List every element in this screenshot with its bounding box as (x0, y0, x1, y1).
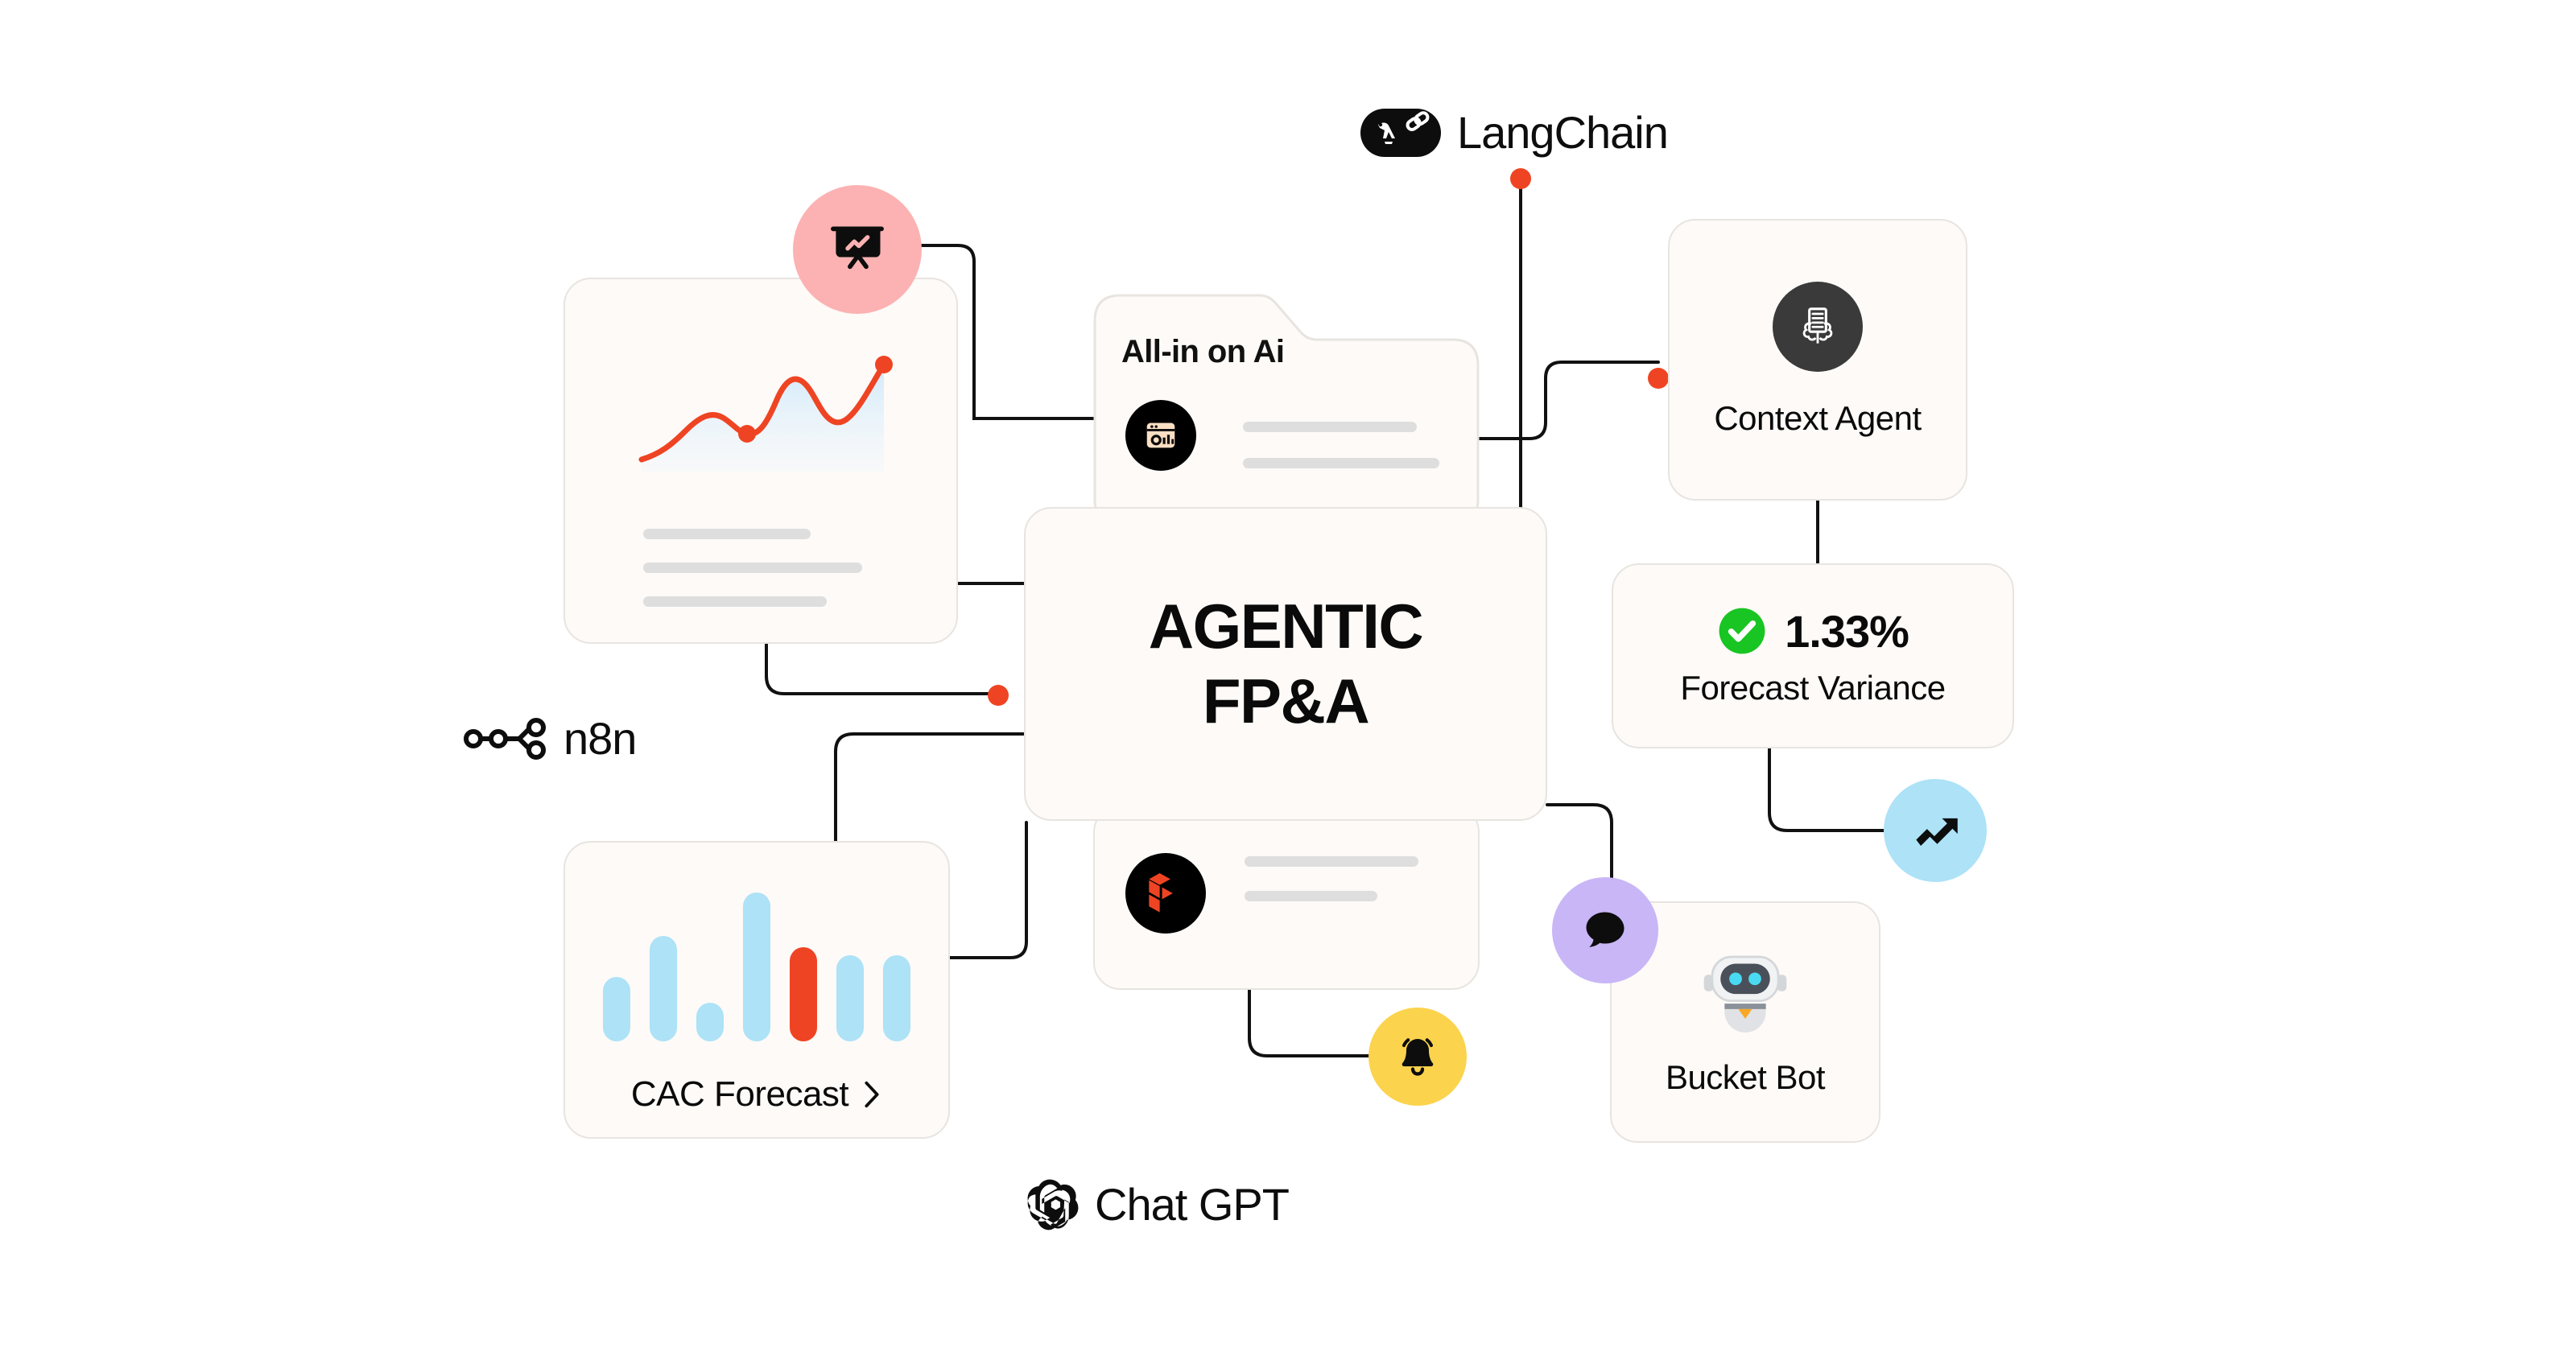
document-card[interactable] (1093, 805, 1480, 990)
bucket-bot-label: Bucket Bot (1666, 1058, 1825, 1097)
brand-label: Chat GPT (1095, 1178, 1289, 1230)
forecast-variance-card[interactable]: 1.33% Forecast Variance (1612, 563, 2014, 748)
hub-title-line1: AGENTIC (1149, 591, 1423, 662)
brand-n8n: n8n (463, 712, 636, 765)
cac-bar (650, 936, 677, 1041)
cac-bar (696, 1003, 724, 1041)
context-agent-card[interactable]: Context Agent (1668, 219, 1967, 501)
skeleton-line (1245, 891, 1377, 901)
skeleton-line (643, 563, 862, 573)
check-circle-icon (1717, 606, 1767, 656)
wire-dot (988, 685, 1009, 706)
skeleton-line (1243, 458, 1439, 468)
forecast-variance-value: 1.33% (1785, 605, 1909, 657)
chat-badge[interactable] (1552, 877, 1658, 983)
folder-title: All-in on Ai (1121, 334, 1284, 370)
hub-title-line2: FP&A (1203, 666, 1368, 736)
n8n-nodes-icon (463, 714, 547, 764)
brain-document-glyph (1793, 302, 1843, 352)
cac-bar (883, 955, 910, 1041)
chart-marker (738, 425, 756, 443)
cac-forecast-card[interactable]: CAC Forecast (563, 841, 950, 1139)
isometric-block-glyph (1145, 871, 1187, 916)
speech-bubble-icon (1581, 906, 1629, 954)
brand-label: n8n (563, 712, 636, 765)
agentic-fpa-hub[interactable]: AGENTIC FP&A (1024, 507, 1547, 821)
presentation-chart-icon (827, 219, 888, 280)
skeleton-line (643, 529, 811, 539)
dashboard-glyph (1142, 417, 1179, 454)
trending-up-badge[interactable] (1884, 779, 1987, 882)
brand-langchain: LangChain (1360, 106, 1668, 159)
cac-forecast-label: CAC Forecast (631, 1074, 848, 1115)
skeleton-line (1243, 422, 1417, 432)
dashboard-window-icon (1125, 400, 1196, 471)
chevron-right-icon[interactable] (861, 1079, 882, 1110)
skeleton-line (1245, 856, 1418, 867)
brand-label: LangChain (1457, 106, 1668, 159)
line-chart-card[interactable] (563, 278, 958, 644)
revenue-area-chart (565, 289, 956, 490)
openai-knot-icon (1021, 1175, 1079, 1233)
cac-bar-chart (565, 892, 948, 1041)
isometric-block-icon (1125, 853, 1206, 934)
all-in-on-ai-card[interactable]: All-in on Ai (1093, 294, 1480, 527)
brand-chatgpt: Chat GPT (1021, 1175, 1289, 1233)
wire-dot (1648, 368, 1669, 389)
langchain-parrot-icon (1360, 109, 1441, 157)
bell-badge[interactable] (1368, 1008, 1467, 1106)
bell-icon (1393, 1033, 1442, 1081)
chart-marker (875, 356, 893, 373)
presentation-badge[interactable] (793, 185, 922, 314)
brain-document-icon (1773, 282, 1863, 372)
skeleton-line (643, 596, 827, 607)
cac-bar (603, 977, 630, 1041)
wire-dot (1510, 168, 1531, 189)
forecast-variance-label: Forecast Variance (1680, 669, 1945, 707)
diagram-canvas: LangChain n8n Chat GPT (0, 0, 2576, 1352)
trending-up-icon (1909, 804, 1962, 857)
cac-bar (743, 892, 770, 1041)
cac-bar (790, 947, 817, 1041)
robot-icon (1701, 947, 1790, 1033)
context-agent-label: Context Agent (1714, 399, 1921, 438)
cac-bar (836, 955, 864, 1041)
